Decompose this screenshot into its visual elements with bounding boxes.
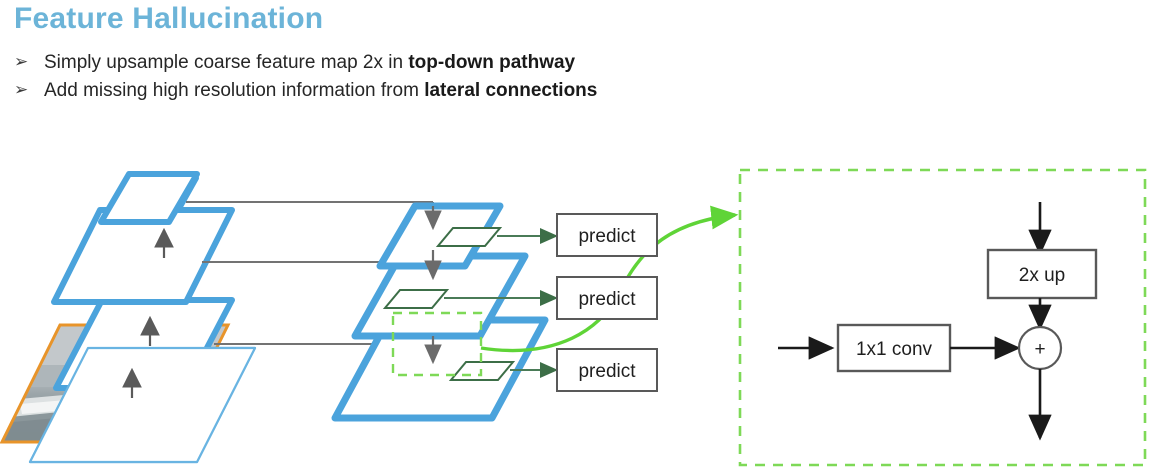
conv-box-label: 1x1 conv xyxy=(856,339,933,360)
bullet-text-prefix: Add missing high resolution information … xyxy=(44,80,424,101)
slide-canvas: Feature Hallucination ➢ Simply upsample … xyxy=(0,0,1158,472)
bullet-text-prefix: Simply upsample coarse feature map 2x in xyxy=(44,52,408,73)
list-item: ➢ Add missing high resolution informatio… xyxy=(14,80,597,102)
detail-panel: 2x up 1x1 conv + xyxy=(740,170,1145,465)
fpn-diagram: predict predict predict 2x up xyxy=(0,150,1158,472)
bullet-arrow-icon: ➢ xyxy=(14,81,44,98)
predict-box-1-label: predict xyxy=(578,226,636,247)
predict-box-group[interactable]: predict predict predict xyxy=(557,214,657,391)
list-item: ➢ Simply upsample coarse feature map 2x … xyxy=(14,52,597,74)
detail-panel-border xyxy=(740,170,1145,465)
top-down-pyramid xyxy=(335,206,545,418)
predict-box-2-label: predict xyxy=(578,289,636,310)
bullet-text-emphasis: lateral connections xyxy=(424,80,597,101)
upsample-box-label: 2x up xyxy=(1019,265,1065,286)
predict-box-3-label: predict xyxy=(578,361,636,382)
merge-node-label: + xyxy=(1034,339,1045,360)
page-title: Feature Hallucination xyxy=(14,2,323,36)
bullet-list: ➢ Simply upsample coarse feature map 2x … xyxy=(14,52,597,108)
bullet-arrow-icon: ➢ xyxy=(14,53,44,70)
bullet-text: Simply upsample coarse feature map 2x in… xyxy=(44,52,575,74)
bullet-text-emphasis: top-down pathway xyxy=(408,52,575,73)
bullet-text: Add missing high resolution information … xyxy=(44,80,597,102)
